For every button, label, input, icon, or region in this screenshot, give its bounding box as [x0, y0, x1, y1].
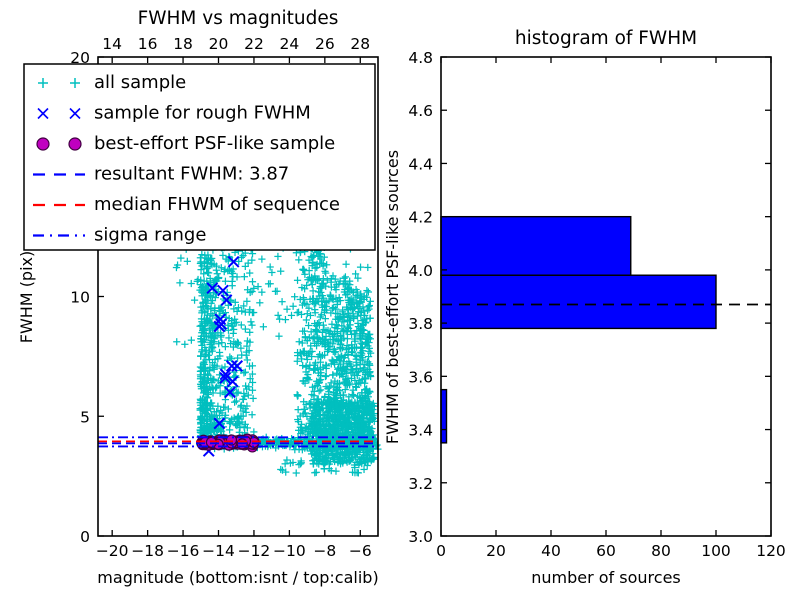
legend-label-4: median FHWM of sequence	[94, 194, 340, 215]
left-xtick-label-top: 22	[244, 35, 264, 53]
left-xtick-label: −8	[313, 542, 336, 560]
left-xtick-label-top: 18	[173, 35, 193, 53]
histogram-bar	[441, 275, 716, 328]
legend-label-5: sigma range	[94, 225, 206, 246]
left-xtick-label-top: 26	[315, 35, 335, 53]
legend-label-3: resultant FWHM: 3.87	[94, 164, 289, 185]
legend-label-1: sample for rough FWHM	[94, 103, 311, 124]
legend-frame	[24, 64, 375, 250]
right-xtick-label: 80	[651, 542, 671, 560]
left-xtick-label-top: 16	[138, 35, 158, 53]
legend-label-0: all sample	[94, 72, 186, 93]
right-xtick-label: 100	[701, 542, 731, 560]
left-xtick-label-top: 28	[350, 35, 370, 53]
left-xtick-label: −10	[273, 542, 306, 560]
histogram-bar	[441, 217, 631, 276]
left-xtick-label: −18	[131, 542, 164, 560]
right-ytick-label: 3.6	[408, 368, 433, 386]
matplotlib-figure: −20−18−16−14−12−10−8−6141618202224262805…	[0, 0, 800, 600]
left-xtick-label: −12	[238, 542, 271, 560]
left-ytick-label: 10	[70, 289, 90, 307]
right-ytick-label: 3.0	[408, 528, 433, 546]
right-ytick-label: 4.0	[408, 262, 433, 280]
legend: all samplesample for rough FWHMbest-effo…	[24, 64, 375, 250]
left-xtick-label-top: 14	[102, 35, 122, 53]
left-xtick-label: −20	[96, 542, 129, 560]
left-panel-title: FWHM vs magnitudes	[138, 8, 339, 29]
left-xtick-label: −16	[167, 542, 200, 560]
right-ytick-label: 3.8	[408, 315, 433, 333]
histogram-bar	[441, 390, 447, 443]
left-xtick-label-top: 20	[209, 35, 229, 53]
left-xtick-label-top: 24	[280, 35, 300, 53]
right-xtick-label: 20	[486, 542, 506, 560]
legend-label-2: best-effort PSF-like sample	[94, 133, 335, 154]
right-ytick-label: 4.8	[408, 49, 433, 67]
left-ytick-label: 5	[80, 408, 90, 426]
right-xaxis-label: number of sources	[531, 568, 681, 587]
right-xtick-label: 40	[541, 542, 561, 560]
left-xtick-label: −14	[202, 542, 235, 560]
left-xaxis-label: magnitude (bottom:isnt / top:calib)	[97, 568, 378, 587]
left-ytick-label: 0	[80, 528, 90, 546]
right-ytick-label: 4.2	[408, 209, 433, 227]
plot-canvas: −20−18−16−14−12−10−8−6141618202224262805…	[0, 0, 800, 600]
right-ytick-label: 4.4	[408, 155, 433, 173]
right-ytick-label: 4.6	[408, 102, 433, 120]
left-xtick-label: −6	[349, 542, 372, 560]
right-xtick-label: 60	[596, 542, 616, 560]
right-ytick-label: 3.4	[408, 422, 433, 440]
right-xtick-label: 0	[436, 542, 446, 560]
right-yaxis-label: FWHM of best-effort PSF-like sources	[383, 150, 402, 444]
right-ytick-label: 3.2	[408, 475, 433, 493]
left-yaxis-label: FWHM (pix)	[17, 251, 36, 344]
right-xtick-label: 120	[756, 542, 786, 560]
right-panel-title: histogram of FWHM	[515, 28, 697, 49]
